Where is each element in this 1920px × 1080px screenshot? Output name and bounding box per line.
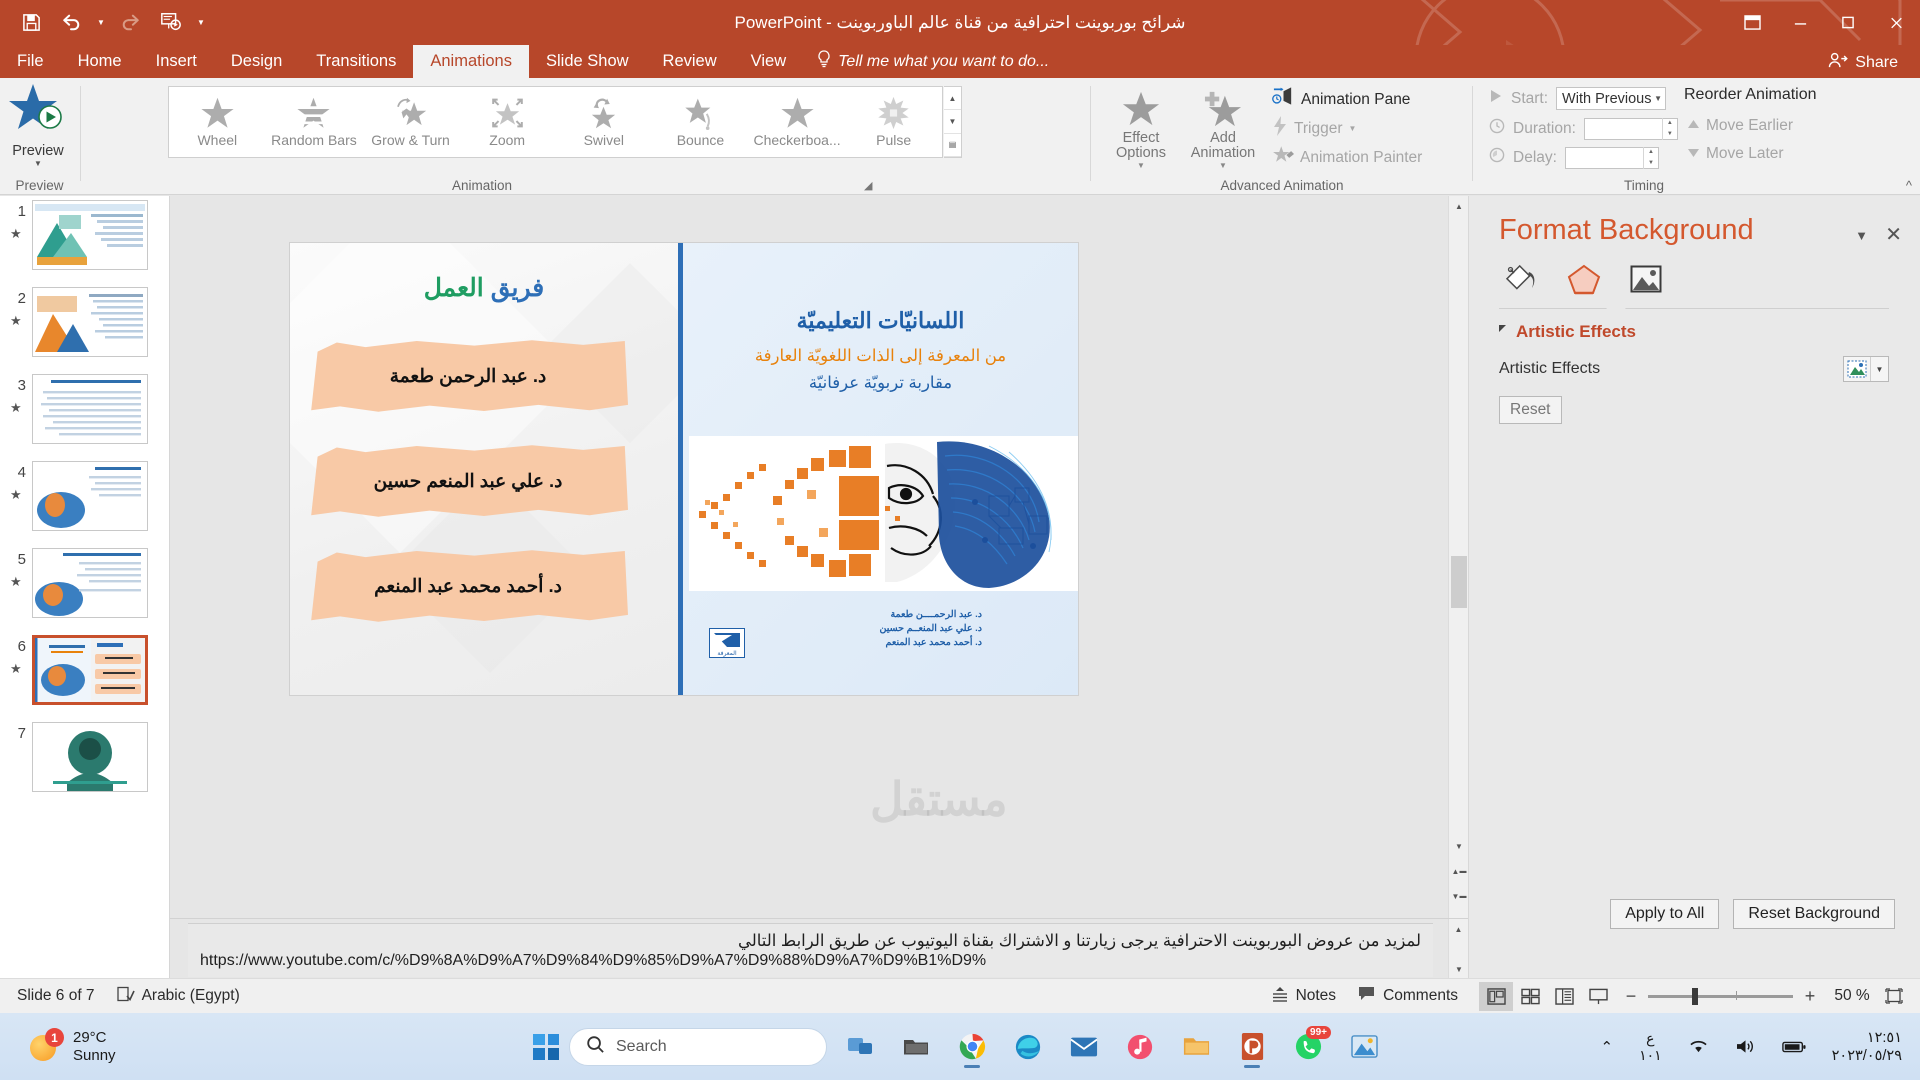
- team-member-2[interactable]: د. علي عبد المنعم حسين: [308, 443, 628, 519]
- start-chevron-down-icon[interactable]: ▼: [1654, 94, 1662, 103]
- thumbnail-image[interactable]: [32, 635, 148, 705]
- animation-star-icon: ★: [10, 226, 22, 242]
- artistic-effects-label: Artistic Effects: [1499, 360, 1600, 378]
- animation-star-icon: ★: [10, 400, 22, 416]
- preview-button[interactable]: Preview ▼: [2, 82, 74, 187]
- taskbar-center: Search: [533, 1013, 1387, 1080]
- apply-to-all-button[interactable]: Apply to All: [1610, 899, 1719, 929]
- tray-expand-button[interactable]: ⌃: [1594, 1033, 1619, 1061]
- notes-scroll-up-icon[interactable]: ▲: [1449, 919, 1468, 939]
- ribbon: Preview ▼ Preview Wheel Random Bars Grow…: [0, 78, 1920, 195]
- thumbnail-slide-1[interactable]: 1 ★: [0, 196, 169, 283]
- delay-row: Delay: ▲▼: [1484, 144, 1664, 171]
- animation-grow-and-turn[interactable]: Grow & Turn: [362, 87, 459, 157]
- scroll-up-icon[interactable]: ▲: [1449, 196, 1469, 216]
- current-slide[interactable]: فريق العمل د. عبد الرحمن طعمة د. علي عبد…: [290, 243, 1078, 695]
- zoom-track[interactable]: [1648, 995, 1793, 998]
- photos-icon[interactable]: [1341, 1024, 1387, 1070]
- tab-insert[interactable]: Insert: [139, 45, 214, 78]
- thumbnail-slide-3[interactable]: 3 ★: [0, 370, 169, 457]
- wifi-icon[interactable]: [1682, 1033, 1715, 1060]
- slide-sorter-view-button[interactable]: [1513, 982, 1547, 1011]
- kbd-line-1: ع: [1639, 1030, 1662, 1047]
- file-explorer-icon[interactable]: [893, 1024, 939, 1070]
- pane-divider: [1499, 308, 1889, 309]
- notification-badge: 1: [45, 1028, 64, 1047]
- animation-random-bars-label: Random Bars: [271, 132, 357, 148]
- artistic-effects-row: Artistic Effects ▼: [1499, 354, 1889, 384]
- zoom-in-button[interactable]: +: [1802, 986, 1818, 1007]
- powerpoint-window: ▼ ▼ شرائح بوربوينت احترافية من قناة عالم…: [0, 0, 1920, 1080]
- tab-transitions[interactable]: Transitions: [299, 45, 413, 78]
- animation-painter-label: Animation Painter: [1300, 149, 1422, 167]
- duration-row: Duration: ▲▼: [1484, 115, 1683, 142]
- animation-star-icon: ★: [10, 574, 22, 590]
- clock-time: ١٢:٥١: [1832, 1029, 1902, 1047]
- artistic-effects-section-title: Artistic Effects: [1516, 322, 1636, 342]
- start-row: Start: With Previous ▼: [1484, 85, 1671, 112]
- tell-me-text: Tell me what you want to do...: [838, 53, 1049, 71]
- animation-pane-button[interactable]: Animation Pane: [1267, 86, 1415, 113]
- team-member-name: د. عبد الرحمن طعمة: [308, 338, 628, 414]
- zoom-out-button[interactable]: −: [1623, 986, 1639, 1007]
- animation-star-icon: ★: [10, 313, 22, 329]
- ribbon-display-options-button[interactable]: [1728, 0, 1776, 45]
- duration-up-icon[interactable]: ▲: [1663, 118, 1677, 129]
- close-button[interactable]: [1872, 0, 1920, 45]
- search-placeholder: Search: [616, 1038, 667, 1056]
- preview-star-icon: [9, 82, 67, 141]
- artistic-effects-section-header[interactable]: Artistic Effects: [1499, 322, 1636, 342]
- duration-stepper[interactable]: ▲▼: [1584, 118, 1678, 140]
- slide-title: اللسانيّات التعليميّة: [683, 308, 1078, 334]
- keyboard-layout-text: ع ١٠١: [1639, 1030, 1662, 1064]
- share-person-icon: [1828, 52, 1848, 74]
- reset-label: Reset: [1510, 401, 1551, 419]
- expand-collapse-triangle-icon[interactable]: [1499, 325, 1506, 339]
- ribbon-group-preview: Preview ▼ Preview: [0, 78, 79, 195]
- tab-home[interactable]: Home: [61, 45, 139, 78]
- start-select[interactable]: With Previous ▼: [1556, 87, 1666, 110]
- task-view-icon[interactable]: [837, 1024, 883, 1070]
- tell-me-box[interactable]: Tell me what you want to do...: [803, 45, 1063, 78]
- delay-stepper[interactable]: ▲▼: [1565, 147, 1659, 169]
- comment-icon: [1358, 986, 1376, 1007]
- thumbnail-number: 5: [8, 551, 26, 568]
- battery-icon[interactable]: [1776, 1035, 1812, 1059]
- lightbulb-icon: [817, 50, 831, 73]
- comments-label: Comments: [1383, 987, 1458, 1005]
- ribbon-group-animation: Wheel Random Bars Grow & Turn Zoom Swive…: [82, 78, 1172, 195]
- thumbnail-image[interactable]: [32, 287, 148, 357]
- clock-date: ٢٠٢٣/٠٥/٢٩: [1832, 1047, 1902, 1065]
- move-earlier-label: Move Earlier: [1706, 117, 1793, 135]
- start-button-icon[interactable]: [533, 1034, 559, 1060]
- team-member-name: د. أحمد محمد عبد المنعم: [308, 548, 628, 624]
- whatsapp-icon[interactable]: 99+: [1285, 1024, 1331, 1070]
- trigger-bolt-icon: [1272, 116, 1288, 141]
- next-slide-icon[interactable]: ▼▬: [1449, 886, 1469, 906]
- share-button[interactable]: Share: [1820, 49, 1906, 76]
- slide-counter-label: Slide 6 of 7: [17, 987, 95, 1005]
- thumbnail-slide-7[interactable]: 7: [0, 718, 169, 805]
- preview-label: Preview: [12, 143, 64, 159]
- animation-zoom[interactable]: Zoom: [459, 87, 556, 157]
- slide-scrollbar[interactable]: ▲ ▼ ▲▬ ▼▬: [1448, 196, 1468, 918]
- slide-show-view-button[interactable]: [1581, 982, 1615, 1011]
- maximize-button[interactable]: [1824, 0, 1872, 45]
- animation-swivel[interactable]: Swivel: [556, 87, 653, 157]
- team-member-name: د. علي عبد المنعم حسين: [308, 443, 628, 519]
- gallery-scroll-up-icon[interactable]: ▲: [944, 87, 961, 110]
- keyboard-layout-indicator[interactable]: ع ١٠١: [1633, 1025, 1668, 1069]
- animation-wheel[interactable]: Wheel: [169, 87, 266, 157]
- picture-icon[interactable]: [1623, 258, 1669, 300]
- animation-wheel-label: Wheel: [197, 132, 237, 148]
- trigger-label: Trigger: [1294, 120, 1343, 138]
- cover-authors: د. عبد الرحمــــن طعمة د. علي عبد المنعـ…: [880, 608, 983, 650]
- duration-clock-icon: [1489, 118, 1505, 139]
- thumbnail-number: 2: [8, 290, 26, 307]
- clock-button[interactable]: ١٢:٥١ ٢٠٢٣/٠٥/٢٩: [1826, 1024, 1908, 1070]
- delay-spinner[interactable]: ▲▼: [1643, 147, 1658, 169]
- search-input[interactable]: Search: [569, 1028, 827, 1066]
- tab-design[interactable]: Design: [214, 45, 299, 78]
- team-member-3[interactable]: د. أحمد محمد عبد المنعم: [308, 548, 628, 624]
- thumbnail-image[interactable]: [32, 461, 148, 531]
- itunes-icon[interactable]: [1117, 1024, 1163, 1070]
- animation-painter-button[interactable]: Animation Painter: [1267, 144, 1427, 171]
- notes-line-2: https://www.youtube.com/c/%D9%8A%D9%A7%D…: [200, 952, 1421, 970]
- notes-icon: [1271, 986, 1289, 1007]
- group-divider-3: [1472, 86, 1473, 181]
- reset-background-button[interactable]: Reset Background: [1733, 899, 1895, 929]
- tab-review[interactable]: Review: [646, 45, 734, 78]
- svg-text:المعرفة: المعرفة: [717, 650, 737, 657]
- mail-icon[interactable]: [1061, 1024, 1107, 1070]
- group-divider-1: [80, 86, 81, 181]
- thumbnail-number: 7: [8, 725, 26, 742]
- animation-pane-icon: [1272, 87, 1295, 112]
- previous-slide-icon[interactable]: ▲▬: [1449, 861, 1469, 881]
- trigger-dropdown-icon[interactable]: ▼: [1349, 124, 1357, 133]
- apply-to-all-label: Apply to All: [1625, 905, 1704, 923]
- move-earlier-icon: [1687, 117, 1700, 135]
- fill-bucket-icon[interactable]: [1499, 258, 1545, 300]
- artistic-effects-picker[interactable]: ▼: [1843, 356, 1889, 382]
- pane-title: Format Background: [1499, 214, 1754, 247]
- minimize-button[interactable]: [1776, 0, 1824, 45]
- thumbnail-image[interactable]: [32, 548, 148, 618]
- start-label: Start:: [1511, 90, 1548, 108]
- edge-icon[interactable]: [1005, 1024, 1051, 1070]
- weather-temperature: 29°C: [73, 1029, 116, 1047]
- cover-author-2: د. علي عبد المنعــم حسين: [880, 622, 983, 636]
- zoom-handle[interactable]: [1692, 988, 1698, 1005]
- animation-pane-label: Animation Pane: [1301, 91, 1410, 109]
- group-divider-2: [1090, 86, 1091, 181]
- ribbon-group-timing: Start: With Previous ▼ Duration: ▲▼: [1474, 78, 1920, 195]
- animation-grow-and-turn-label: Grow & Turn: [371, 132, 450, 148]
- delay-label: Delay:: [1513, 149, 1557, 167]
- animation-star-icon: ★: [10, 661, 22, 677]
- zoom-percent[interactable]: 50 %: [1826, 987, 1878, 1005]
- move-earlier-button[interactable]: Move Earlier: [1682, 112, 1798, 139]
- thumbnail-slide-2[interactable]: 2 ★: [0, 283, 169, 370]
- animation-checkerboard-label: Checkerboa...: [753, 132, 840, 148]
- pane-footer-buttons: Apply to All Reset Background: [1469, 892, 1920, 936]
- effect-options-dropdown-icon[interactable]: ▼: [1137, 161, 1145, 170]
- pane-icon-tabs: [1499, 258, 1829, 302]
- search-icon: [586, 1035, 605, 1059]
- powerpoint-icon[interactable]: [1229, 1024, 1275, 1070]
- status-bar-right: Notes Comments −: [1260, 982, 1920, 1011]
- animation-pulse[interactable]: Pulse: [845, 87, 942, 157]
- artistic-effects-dropdown-icon[interactable]: ▼: [1870, 357, 1888, 381]
- thumbnail-image[interactable]: [32, 200, 148, 270]
- window-title: شرائح بوربوينت احترافية من قناة عالم الب…: [0, 0, 1920, 45]
- tab-slide-show[interactable]: Slide Show: [529, 45, 646, 78]
- notes-line-1: لمزيد من عروض البوربوينت الاحترافية يرجى…: [200, 930, 1421, 952]
- ribbon-tab-bar: File Home Insert Design Transitions Anim…: [0, 45, 1920, 78]
- language-label: Arabic (Egypt): [142, 987, 240, 1005]
- trigger-button[interactable]: Trigger ▼: [1267, 115, 1361, 142]
- zoom-tick-100: [1736, 991, 1737, 1000]
- scrollbar-thumb[interactable]: [1451, 556, 1467, 608]
- animation-swivel-label: Swivel: [584, 132, 624, 148]
- team-header: فريق العمل: [290, 273, 678, 303]
- weather-text: 29°C Sunny: [73, 1029, 116, 1065]
- reorder-animation-title: Reorder Animation: [1684, 86, 1817, 104]
- chevron-up-icon: ⌃: [1600, 1038, 1613, 1056]
- duration-spinner[interactable]: ▲▼: [1662, 118, 1677, 140]
- slide-team-panel: فريق العمل د. عبد الرحمن طعمة د. علي عبد…: [290, 243, 678, 695]
- slide-subtitle-1: من المعرفة إلى الذات اللغويّة العارفة: [683, 346, 1078, 366]
- notes-textbox[interactable]: لمزيد من عروض البوربوينت الاحترافية يرجى…: [188, 923, 1433, 977]
- volume-icon[interactable]: [1729, 1033, 1762, 1060]
- animation-painter-icon: [1272, 145, 1294, 170]
- slide-editor[interactable]: فريق العمل د. عبد الرحمن طعمة د. علي عبد…: [170, 196, 1468, 918]
- team-header-word2: العمل: [424, 274, 484, 302]
- weather-widget[interactable]: 1 29°C Sunny: [22, 1025, 124, 1069]
- collapse-ribbon-button[interactable]: ^: [1906, 178, 1912, 193]
- animation-bounce[interactable]: Bounce: [652, 87, 749, 157]
- system-tray: ⌃ ع ١٠١ ١٢:٥١ ٢٠٢٣/٠٥/٢٩: [1594, 1013, 1908, 1080]
- normal-view-button[interactable]: [1479, 982, 1513, 1011]
- effect-options-label: Effect Options: [1102, 131, 1180, 161]
- animation-zoom-label: Zoom: [489, 132, 525, 148]
- pane-options-chevron-icon[interactable]: ▼: [1855, 228, 1868, 243]
- add-animation-dropdown-icon[interactable]: ▼: [1219, 161, 1227, 170]
- spell-check-icon: [117, 986, 135, 1007]
- animation-group-label: Animation: [82, 178, 882, 193]
- thumbnail-image[interactable]: [32, 722, 148, 792]
- comments-button[interactable]: Comments: [1347, 982, 1469, 1011]
- status-bar: Slide 6 of 7 Arabic (Egypt) Notes Commen…: [0, 978, 1920, 1013]
- team-header-word1: فريق: [491, 274, 545, 302]
- slide-thumbnail-pane[interactable]: 1 ★ 2 ★: [0, 196, 170, 978]
- slide-cover-panel: اللسانيّات التعليميّة من المعرفة إلى الذ…: [678, 243, 1078, 695]
- title-bar: ▼ ▼ شرائح بوربوينت احترافية من قناة عالم…: [0, 0, 1920, 45]
- publisher-logo: المعرفة: [709, 628, 745, 658]
- weather-description: Sunny: [73, 1047, 116, 1065]
- notes-scrollbar[interactable]: ▲ ▼: [1448, 919, 1468, 979]
- animation-pulse-label: Pulse: [876, 132, 911, 148]
- animation-dialog-launcher[interactable]: ◢: [864, 179, 872, 192]
- notes-button[interactable]: Notes: [1260, 982, 1348, 1011]
- animation-bounce-label: Bounce: [677, 132, 724, 148]
- advanced-animation-group-label: Advanced Animation: [1092, 178, 1472, 193]
- clock-text: ١٢:٥١ ٢٠٢٣/٠٥/٢٩: [1832, 1029, 1902, 1065]
- effect-options-button[interactable]: Effect Options ▼: [1102, 84, 1180, 189]
- animation-star-icon: ★: [10, 487, 22, 503]
- cover-illustration: [689, 436, 1078, 591]
- tab-file[interactable]: File: [0, 45, 61, 78]
- kbd-line-2: ١٠١: [1639, 1047, 1662, 1064]
- timing-group-label: Timing: [1474, 178, 1814, 193]
- folder-icon[interactable]: [1173, 1024, 1219, 1070]
- thumbnail-number: 6: [8, 638, 26, 655]
- start-value: With Previous: [1562, 91, 1651, 107]
- preview-dropdown-icon[interactable]: ▼: [34, 159, 42, 168]
- selected-tab-notch: [1606, 300, 1626, 309]
- gallery-scroll-down-icon[interactable]: ▼: [944, 110, 961, 133]
- effects-pentagon-icon[interactable]: [1561, 258, 1607, 300]
- cover-author-3: د. أحمد محمد عبد المنعم: [880, 636, 983, 650]
- preview-group-label: Preview: [0, 178, 79, 193]
- thumbnail-slide-4[interactable]: 4 ★: [0, 457, 169, 544]
- cover-author-1: د. عبد الرحمــــن طعمة: [880, 608, 983, 622]
- format-background-pane[interactable]: Format Background ▼ ✕: [1468, 196, 1920, 978]
- window-controls: [1728, 0, 1920, 45]
- delay-up-icon[interactable]: ▲: [1644, 147, 1658, 158]
- animation-gallery-scroll[interactable]: ▲ ▼ ▤: [944, 86, 962, 158]
- animation-random-bars[interactable]: Random Bars: [266, 87, 363, 157]
- add-animation-button[interactable]: Add Animation ▼: [1184, 84, 1262, 189]
- tab-view[interactable]: View: [734, 45, 803, 78]
- zoom-slider[interactable]: − +: [1615, 986, 1826, 1007]
- scroll-down-icon[interactable]: ▼: [1449, 836, 1469, 856]
- thumbnail-number: 1: [8, 203, 26, 220]
- move-later-icon: [1687, 145, 1700, 163]
- fit-slide-to-window-button[interactable]: [1878, 982, 1910, 1011]
- reset-background-label: Reset Background: [1748, 905, 1880, 923]
- thumbnail-number: 4: [8, 464, 26, 481]
- notes-label: Notes: [1296, 987, 1337, 1005]
- thumbnail-image[interactable]: [32, 374, 148, 444]
- team-member-1[interactable]: د. عبد الرحمن طعمة: [308, 338, 628, 414]
- thumbnail-number: 3: [8, 377, 26, 394]
- pane-close-icon[interactable]: ✕: [1885, 222, 1902, 247]
- share-label: Share: [1855, 54, 1898, 72]
- language-indicator[interactable]: Arabic (Egypt): [106, 982, 251, 1011]
- animation-checkerboard[interactable]: Checkerboa...: [749, 87, 846, 157]
- move-later-label: Move Later: [1706, 145, 1784, 163]
- reset-effects-button[interactable]: Reset: [1499, 396, 1562, 424]
- duration-down-icon[interactable]: ▼: [1663, 129, 1677, 140]
- notes-scroll-down-icon[interactable]: ▼: [1449, 959, 1469, 979]
- watermark-text: مستقل: [870, 772, 1008, 826]
- delay-down-icon[interactable]: ▼: [1644, 158, 1658, 169]
- ribbon-group-advanced-animation: Effect Options ▼ Add Animation ▼ Animati…: [1092, 78, 1472, 195]
- start-play-icon: [1489, 89, 1503, 108]
- move-later-button[interactable]: Move Later: [1682, 140, 1789, 167]
- chrome-icon[interactable]: [949, 1024, 995, 1070]
- thumbnail-slide-5[interactable]: 5 ★: [0, 544, 169, 631]
- notes-pane[interactable]: لمزيد من عروض البوربوينت الاحترافية يرجى…: [170, 918, 1468, 978]
- slide-subtitle-2: مقاربة تربويّة عرفانيّة: [683, 373, 1078, 393]
- delay-clock-icon: [1489, 147, 1505, 168]
- reading-view-button[interactable]: [1547, 982, 1581, 1011]
- gallery-more-icon[interactable]: ▤: [944, 134, 961, 157]
- add-animation-label: Add Animation: [1184, 131, 1262, 161]
- animation-gallery[interactable]: Wheel Random Bars Grow & Turn Zoom Swive…: [168, 86, 943, 158]
- windows-taskbar: 1 29°C Sunny Search: [0, 1013, 1920, 1080]
- thumbnail-slide-6[interactable]: 6 ★: [0, 631, 169, 718]
- artistic-effect-swatch-icon: [1844, 357, 1870, 381]
- duration-label: Duration:: [1513, 120, 1576, 138]
- whatsapp-badge: 99+: [1306, 1026, 1331, 1039]
- sun-icon: 1: [30, 1031, 62, 1063]
- slide-counter[interactable]: Slide 6 of 7: [6, 982, 106, 1011]
- tab-animations[interactable]: Animations: [413, 45, 529, 78]
